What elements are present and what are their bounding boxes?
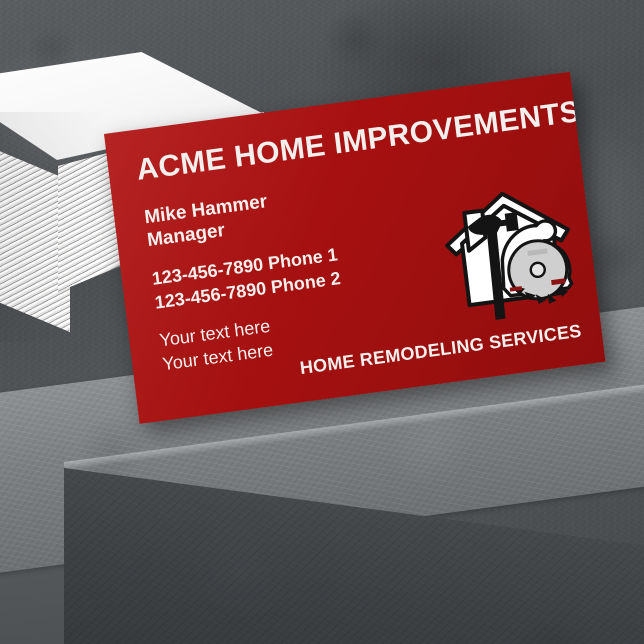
red-business-card[interactable]: ACME HOME IMPROVEMENTS Mike Hammer Manag… xyxy=(104,72,605,424)
house-hammer-circular-saw-logo xyxy=(432,179,588,336)
business-card-mockup-scene: ACME HOME IMPROVEMENTS Mike Hammer Manag… xyxy=(0,0,644,644)
business-card-front-face: ACME HOME IMPROVEMENTS Mike Hammer Manag… xyxy=(104,72,605,424)
